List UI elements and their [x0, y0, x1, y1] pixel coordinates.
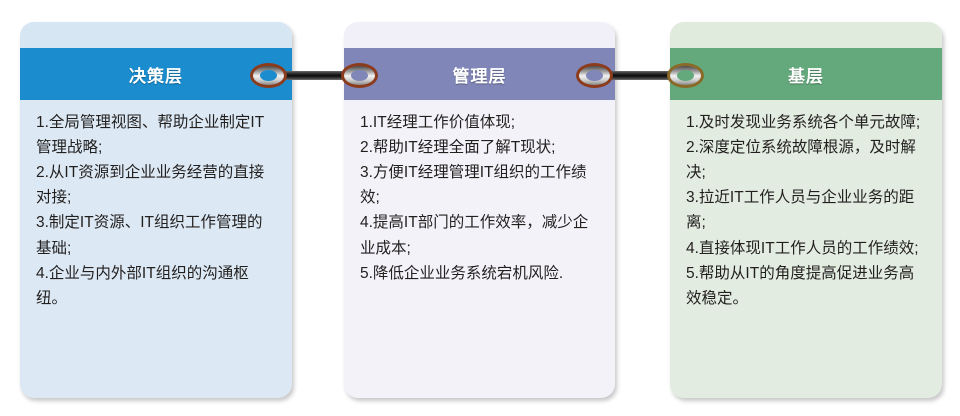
card-decision-body: 1.全局管理视图、帮助企业制定IT管理战略; 2.从IT资源到企业业务经营的直接… [20, 100, 292, 323]
list-item: 2.深度定位系统故障根源，及时解决; [686, 135, 926, 185]
list-item: 3.方便IT经理管理IT组织的工作绩效; [360, 160, 599, 210]
card-frontline[interactable]: 基层 1.及时发现业务系统各个单元故障; 2.深度定位系统故障根源，及时解决; … [670, 22, 942, 398]
list-item: 3.制定IT资源、IT组织工作管理的基础; [36, 210, 276, 260]
list-item: 4.提高IT部门的工作效率，减少企业成本; [360, 210, 599, 260]
list-item: 5.帮助从IT的角度提高促进业务高效稳定。 [686, 261, 926, 311]
card-frontline-body: 1.及时发现业务系统各个单元故障; 2.深度定位系统故障根源，及时解决; 3.拉… [670, 100, 942, 323]
card-top-spacer [20, 22, 292, 48]
card-management-body: 1.IT经理工作价值体现; 2.帮助IT经理全面了解T现状; 3.方便IT经理管… [344, 100, 615, 298]
card-decision-header: 决策层 [20, 48, 292, 100]
card-top-spacer [344, 22, 615, 48]
list-item: 1.及时发现业务系统各个单元故障; [686, 110, 926, 135]
list-item: 2.帮助IT经理全面了解T现状; [360, 135, 599, 160]
list-item: 4.企业与内外部IT组织的沟通枢纽。 [36, 261, 276, 311]
card-decision[interactable]: 决策层 1.全局管理视图、帮助企业制定IT管理战略; 2.从IT资源到企业业务经… [20, 22, 292, 398]
card-top-spacer [670, 22, 942, 48]
list-item: 2.从IT资源到企业业务经营的直接对接; [36, 160, 276, 210]
card-decision-title: 决策层 [129, 62, 183, 87]
list-item: 3.拉近IT工作人员与企业业务的距离; [686, 185, 926, 235]
card-management[interactable]: 管理层 1.IT经理工作价值体现; 2.帮助IT经理全面了解T现状; 3.方便I… [344, 22, 615, 398]
card-management-title: 管理层 [453, 62, 507, 87]
card-management-header: 管理层 [344, 48, 615, 100]
list-item: 1.IT经理工作价值体现; [360, 110, 599, 135]
list-item: 5.降低企业业务系统宕机风险. [360, 261, 599, 286]
list-item: 4.直接体现IT工作人员的工作绩效; [686, 236, 926, 261]
list-item: 1.全局管理视图、帮助企业制定IT管理战略; [36, 110, 276, 160]
diagram-canvas: 决策层 1.全局管理视图、帮助企业制定IT管理战略; 2.从IT资源到企业业务经… [0, 0, 960, 416]
card-frontline-title: 基层 [788, 62, 824, 87]
card-frontline-header: 基层 [670, 48, 942, 100]
